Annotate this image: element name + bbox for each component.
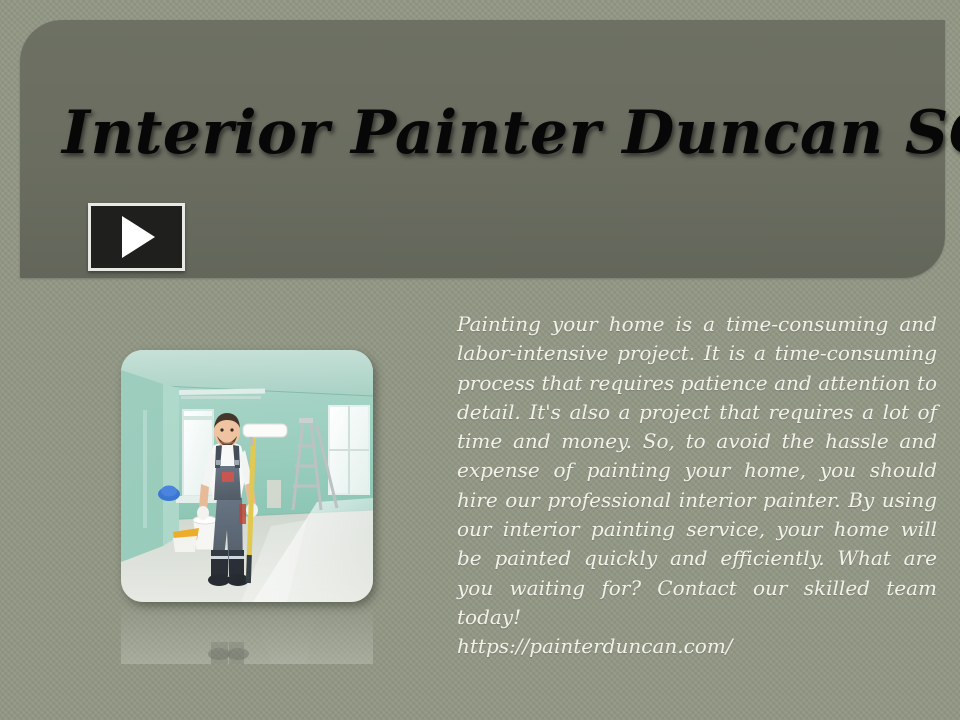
page-title: Interior Painter Duncan SC [62,98,960,168]
painter-photo-illustration [121,350,373,602]
photo-reflection [121,602,373,664]
painter-photo [121,350,373,602]
body-paragraph-text: Painting your home is a time-consuming a… [457,312,937,629]
body-paragraph: Painting your home is a time-consuming a… [457,310,937,662]
photo-reflection-illustration [121,602,373,664]
presentation-slide: Interior Painter Duncan SC [0,0,960,720]
photo-figure [121,350,373,602]
title-panel: Interior Painter Duncan SC [20,20,945,278]
play-video-button[interactable] [88,203,185,271]
website-url[interactable]: https://painterduncan.com/ [457,632,937,661]
play-triangle-icon [122,216,155,258]
